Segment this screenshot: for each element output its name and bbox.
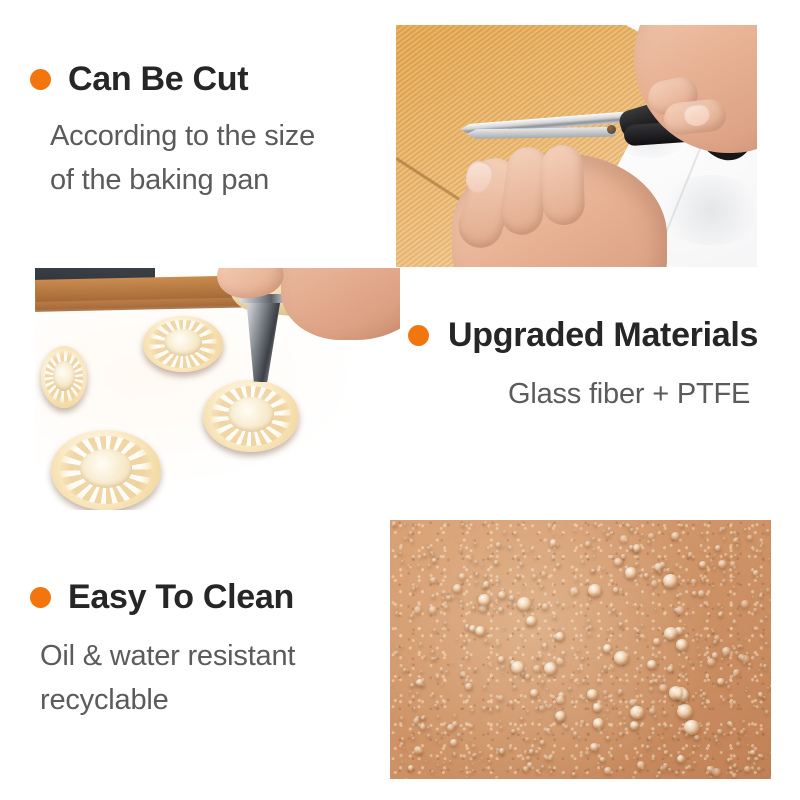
water-droplet <box>697 647 699 649</box>
water-droplet <box>707 658 716 666</box>
water-droplet <box>754 626 758 630</box>
water-droplet <box>680 583 683 585</box>
water-droplet <box>732 773 736 777</box>
water-droplet <box>633 544 641 551</box>
water-droplet <box>536 769 540 773</box>
water-droplet <box>460 671 466 677</box>
feature-heading: Upgraded Materials <box>448 318 758 352</box>
water-droplet <box>582 679 586 683</box>
water-droplet <box>661 737 664 740</box>
water-droplet <box>555 632 565 641</box>
water-droplet <box>453 584 462 592</box>
water-droplet <box>593 555 596 557</box>
water-droplet <box>414 746 423 754</box>
water-droplet <box>621 623 623 625</box>
water-droplet <box>587 689 598 700</box>
water-droplet <box>602 567 605 570</box>
water-droplet <box>701 577 705 581</box>
water-droplet <box>666 568 671 572</box>
mat-texture-grain <box>390 520 771 779</box>
water-droplet <box>750 750 756 755</box>
water-droplet <box>495 579 499 583</box>
water-droplet <box>714 735 718 739</box>
water-droplet <box>604 767 611 774</box>
water-droplet <box>431 692 435 696</box>
water-droplet <box>529 749 534 753</box>
water-droplet <box>525 674 531 679</box>
water-droplet <box>647 660 656 669</box>
water-droplet <box>546 688 548 690</box>
water-droplet <box>481 564 484 566</box>
water-droplet <box>430 577 437 583</box>
water-droplet <box>523 586 525 588</box>
water-droplet <box>651 580 658 587</box>
water-droplet <box>718 743 720 745</box>
water-droplet <box>414 524 417 527</box>
water-droplet <box>441 590 446 594</box>
water-droplet <box>649 687 653 691</box>
water-droplet <box>651 570 654 572</box>
orange-dot-icon <box>408 325 429 346</box>
water-droplet <box>571 696 574 698</box>
water-droplet <box>588 625 593 629</box>
water-droplet <box>472 606 476 609</box>
water-droplet <box>725 681 728 684</box>
water-droplet <box>761 542 764 545</box>
water-droplet <box>766 588 770 592</box>
cream-rosette <box>51 430 161 510</box>
water-droplet <box>525 737 529 741</box>
cream-rosette <box>203 380 299 452</box>
infographic-canvas: Can Be Cut According to the size of the … <box>0 0 800 800</box>
water-droplet <box>618 689 623 694</box>
water-droplet <box>484 574 488 578</box>
water-droplet <box>763 664 767 668</box>
feature-body: Glass fiber + PTFE <box>408 372 750 416</box>
water-droplet <box>475 626 486 636</box>
water-droplet <box>496 707 500 710</box>
water-droplet <box>574 529 577 532</box>
water-droplet <box>495 776 499 779</box>
water-droplet <box>517 597 532 611</box>
water-droplet <box>483 581 490 587</box>
water-droplet <box>404 523 407 525</box>
water-droplet <box>606 533 611 537</box>
water-droplet <box>460 600 464 603</box>
water-droplet <box>723 537 726 540</box>
water-droplet <box>498 656 506 663</box>
water-droplet <box>496 542 502 547</box>
water-droplet <box>527 551 529 553</box>
water-droplet <box>700 661 703 663</box>
water-droplet <box>461 668 464 670</box>
water-droplet <box>760 589 762 591</box>
water-droplet <box>469 557 473 560</box>
water-droplet <box>425 760 427 762</box>
water-droplet <box>714 635 720 640</box>
water-droplet <box>736 544 740 547</box>
water-droplet <box>432 558 437 562</box>
water-droplet <box>681 665 685 669</box>
water-droplet <box>556 563 560 567</box>
water-droplet <box>754 757 758 761</box>
water-droplet <box>689 613 691 615</box>
water-droplet <box>494 560 499 565</box>
feature-heading: Easy To Clean <box>68 580 294 614</box>
water-droplet <box>552 557 555 559</box>
water-droplet <box>427 546 431 550</box>
water-droplet <box>764 668 766 670</box>
water-droplet <box>753 762 757 765</box>
water-droplet <box>717 678 725 685</box>
water-droplet <box>742 720 746 723</box>
water-droplet <box>434 657 436 659</box>
water-droplet <box>478 594 491 606</box>
orange-dot-icon <box>30 69 51 90</box>
water-droplet <box>747 757 751 760</box>
feature-body-line: of the baking pan <box>50 158 315 202</box>
water-droplet <box>535 750 539 754</box>
water-droplet <box>542 603 550 610</box>
water-droplet <box>689 754 691 756</box>
water-droplet <box>746 687 748 689</box>
finger <box>541 144 586 225</box>
water-droplet <box>613 703 616 706</box>
water-droplet <box>400 742 404 746</box>
water-droplet <box>573 652 575 654</box>
water-droplet <box>687 765 692 769</box>
water-droplet <box>654 715 657 718</box>
water-droplet <box>649 579 651 581</box>
water-droplet <box>590 743 599 751</box>
photo-water-droplets-on-mat <box>390 520 771 779</box>
water-droplet <box>586 531 588 533</box>
water-droplet <box>556 658 564 666</box>
water-droplet <box>702 697 705 700</box>
water-droplet <box>759 550 762 553</box>
water-droplet <box>620 535 628 543</box>
water-droplet <box>549 704 553 707</box>
water-droplet <box>724 553 728 557</box>
water-droplet <box>452 662 454 664</box>
photo-cutting-mat-with-scissors <box>396 25 757 267</box>
water-droplet <box>741 600 750 608</box>
water-droplet <box>753 608 758 612</box>
water-droplet <box>508 545 512 549</box>
marble-blotch <box>656 175 757 245</box>
water-droplet <box>534 556 537 559</box>
water-droplet <box>698 590 705 597</box>
water-droplet <box>719 529 722 532</box>
water-droplet <box>580 720 585 724</box>
water-droplet <box>757 767 761 771</box>
feature-body-line: According to the size <box>50 114 315 158</box>
water-droplet <box>404 537 407 540</box>
water-droplet <box>711 628 714 631</box>
water-droplet <box>637 761 645 768</box>
water-droplet <box>701 702 705 705</box>
water-droplet <box>593 548 595 550</box>
water-droplet <box>585 751 590 755</box>
feature-body-line: recyclable <box>40 678 295 722</box>
water-droplet <box>587 632 591 636</box>
water-droplet <box>573 732 578 736</box>
water-droplet <box>392 521 397 525</box>
water-droplet <box>466 656 469 659</box>
water-droplet <box>608 528 610 530</box>
water-droplet <box>722 647 730 655</box>
water-droplet <box>517 554 520 557</box>
water-droplet <box>469 739 471 741</box>
water-droplet <box>555 711 566 721</box>
water-droplet <box>469 771 472 774</box>
water-droplet <box>408 765 414 770</box>
water-droplet <box>763 696 766 699</box>
water-droplet <box>589 598 592 601</box>
water-droplet <box>564 725 568 729</box>
water-droplet <box>770 776 771 779</box>
water-droplet <box>705 601 709 605</box>
water-droplet <box>541 571 547 577</box>
water-droplet <box>727 758 731 762</box>
water-droplet <box>684 720 699 734</box>
feature-heading-row: Can Be Cut <box>30 62 315 96</box>
water-droplet <box>736 742 740 746</box>
water-droplet <box>769 599 771 602</box>
water-droplet <box>713 567 715 569</box>
water-droplet <box>702 580 705 583</box>
photo-piping-cream-on-mat <box>35 268 400 510</box>
water-droplet <box>753 705 756 708</box>
water-droplet <box>619 588 623 592</box>
water-droplet <box>534 738 537 741</box>
water-droplet <box>734 554 737 557</box>
water-droplet <box>434 704 437 707</box>
water-droplet <box>511 661 525 674</box>
water-droplet <box>659 684 668 692</box>
water-droplet <box>733 669 740 676</box>
water-droplet <box>607 629 610 632</box>
water-droplet <box>713 686 715 688</box>
water-droplet <box>475 572 479 576</box>
water-droplet <box>676 606 685 614</box>
water-droplet <box>730 703 733 706</box>
water-droplet <box>747 744 749 746</box>
water-droplet <box>601 670 605 674</box>
water-droplet <box>734 537 740 542</box>
water-droplet <box>416 679 424 686</box>
water-droplet <box>496 642 500 646</box>
water-droplet <box>482 706 487 710</box>
water-droplet <box>449 591 451 593</box>
water-droplet <box>594 522 598 525</box>
water-droplet <box>472 744 476 747</box>
water-droplet <box>618 711 623 715</box>
water-droplet <box>516 574 521 578</box>
water-droplet <box>494 608 496 610</box>
water-droplet <box>508 601 513 605</box>
water-droplet <box>671 570 673 572</box>
water-droplet <box>556 601 560 605</box>
water-droplet <box>401 737 405 741</box>
water-droplet <box>541 685 543 687</box>
water-droplet <box>544 662 558 675</box>
water-droplet <box>681 672 683 674</box>
water-droplet <box>445 670 448 673</box>
water-droplet <box>654 679 658 683</box>
water-droplet <box>688 552 693 557</box>
water-droplet <box>635 688 637 690</box>
water-droplet <box>409 690 412 693</box>
water-droplet <box>429 606 438 614</box>
water-droplet <box>553 533 555 535</box>
water-droplet <box>519 562 524 566</box>
water-droplet <box>509 747 512 750</box>
feature-body-line: Glass fiber + PTFE <box>408 372 750 416</box>
water-droplet <box>727 685 731 689</box>
water-droplet <box>622 522 625 525</box>
water-droplet <box>677 704 693 719</box>
water-droplet <box>761 636 764 638</box>
water-droplet <box>653 638 660 645</box>
water-droplet <box>740 730 744 733</box>
water-droplet <box>629 699 637 706</box>
water-droplet <box>509 734 511 736</box>
water-droplet <box>479 605 487 612</box>
water-droplet <box>437 715 440 718</box>
water-droplet <box>445 722 447 724</box>
water-droplet <box>730 561 737 567</box>
water-droplet <box>748 663 752 666</box>
water-droplet <box>722 579 726 583</box>
water-droplet <box>404 778 409 779</box>
water-droplet <box>410 683 415 687</box>
water-droplet <box>765 642 768 645</box>
water-droplet <box>733 531 736 534</box>
water-droplet <box>474 560 478 564</box>
water-droplet <box>591 569 595 573</box>
water-droplet <box>717 729 722 734</box>
water-droplet <box>722 527 725 530</box>
water-droplet <box>644 573 649 578</box>
water-droplet <box>423 655 426 658</box>
water-droplet <box>648 533 655 539</box>
water-droplet <box>745 638 747 640</box>
cream-rosette <box>143 316 223 372</box>
water-droplet <box>693 745 697 748</box>
water-droplet <box>767 687 769 689</box>
water-droplet <box>522 544 524 546</box>
water-droplet <box>582 697 585 700</box>
water-droplet <box>606 709 610 712</box>
water-droplet <box>655 655 659 658</box>
water-droplet <box>736 770 739 773</box>
water-droplet <box>459 541 461 543</box>
feature-heading: Can Be Cut <box>68 62 248 96</box>
water-droplet <box>550 539 558 546</box>
cream-rosette <box>41 346 87 408</box>
water-droplet <box>446 595 451 600</box>
water-droplet <box>427 543 429 545</box>
water-droplet <box>513 531 517 535</box>
water-droplet <box>449 760 451 762</box>
water-droplet <box>636 629 640 633</box>
water-droplet <box>714 554 716 556</box>
water-droplet <box>614 651 629 665</box>
water-droplet <box>501 665 505 669</box>
water-droplet <box>770 684 771 688</box>
water-droplet <box>498 591 507 599</box>
water-droplet <box>597 762 600 764</box>
feature-block-easy-to-clean: Easy To Clean Oil & water resistant recy… <box>30 580 295 722</box>
feature-body-line: Oil & water resistant <box>40 634 295 678</box>
water-droplet <box>694 735 700 741</box>
water-droplet <box>632 776 636 779</box>
water-droplet <box>420 724 427 730</box>
water-droplet <box>687 579 690 582</box>
water-droplet <box>414 606 422 614</box>
water-droplet <box>667 666 674 672</box>
water-droplet <box>606 718 608 720</box>
water-droplet <box>561 651 565 655</box>
water-droplet <box>484 521 488 524</box>
water-droplet <box>765 710 769 714</box>
water-droplet <box>511 729 516 733</box>
water-droplet <box>407 564 410 567</box>
feature-block-upgraded-materials: Upgraded Materials Glass fiber + PTFE <box>408 318 758 416</box>
water-droplet <box>577 668 580 671</box>
water-droplet <box>484 639 488 643</box>
water-droplet <box>758 669 761 671</box>
water-droplet <box>412 587 416 590</box>
water-droplet <box>411 540 414 543</box>
water-droplet <box>403 747 405 749</box>
water-droplet <box>396 607 399 609</box>
feature-block-can-be-cut: Can Be Cut According to the size of the … <box>30 62 315 202</box>
feature-body: According to the size of the baking pan <box>50 114 315 202</box>
water-droplet <box>503 530 507 534</box>
water-droplet <box>488 662 493 666</box>
water-droplet <box>745 735 747 737</box>
water-droplet <box>471 572 473 574</box>
water-droplet <box>509 595 515 601</box>
water-droplet <box>682 572 684 574</box>
water-droplet <box>450 739 458 746</box>
feature-heading-row: Easy To Clean <box>30 580 295 614</box>
water-droplet <box>733 576 735 578</box>
water-droplet <box>695 692 697 694</box>
water-droplet <box>466 521 469 523</box>
water-droplet <box>465 683 473 690</box>
water-droplet <box>691 579 697 584</box>
water-droplet <box>737 645 741 649</box>
water-droplet <box>636 523 638 525</box>
water-droplet <box>523 766 528 771</box>
water-droplet <box>630 706 644 719</box>
water-droplet <box>693 761 696 764</box>
water-droplet <box>460 769 462 771</box>
water-droplet <box>662 675 665 678</box>
water-droplet <box>560 534 562 536</box>
water-droplet <box>498 695 504 701</box>
water-droplet <box>526 756 530 760</box>
water-droplet <box>593 626 595 628</box>
water-droplet <box>649 680 654 684</box>
water-droplet <box>487 546 490 549</box>
water-droplet <box>603 690 608 694</box>
water-droplet <box>603 715 605 717</box>
water-droplet <box>663 711 667 714</box>
